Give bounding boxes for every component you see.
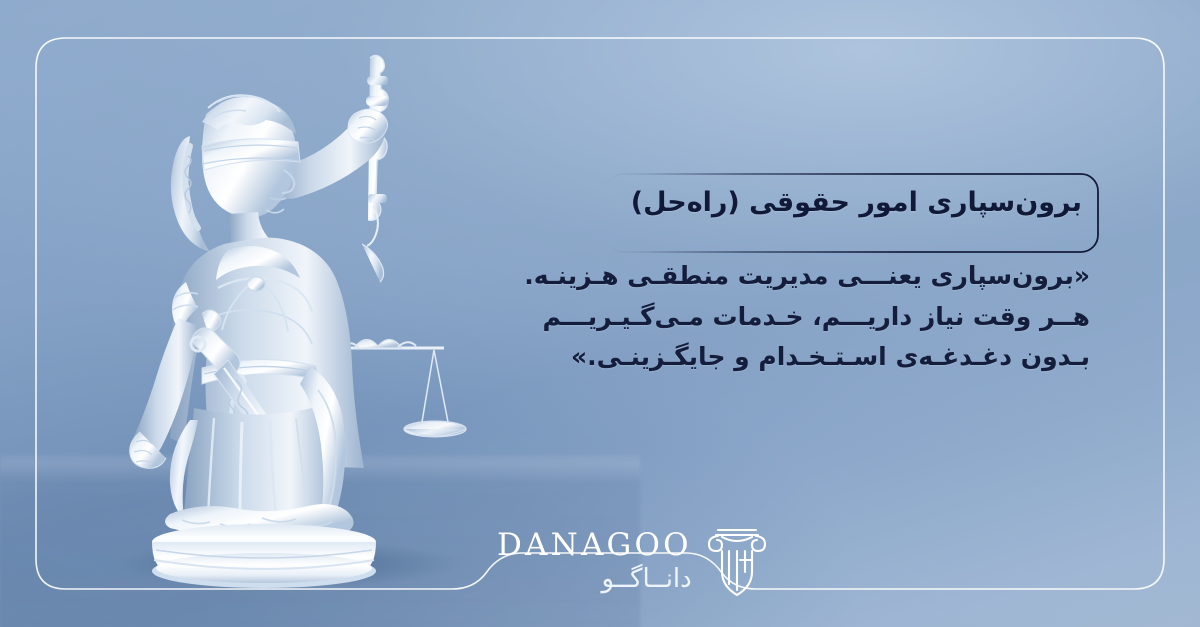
brand-logo[interactable]: DANAGOO دانــاگــو xyxy=(497,524,768,598)
pillar-shield-icon xyxy=(706,524,768,598)
quote-block: «برون‌سپاری یعنـــی مدیریت منطقـی هـزینـ… xyxy=(490,256,1090,378)
brand-name-fa: دانــاگــو xyxy=(497,566,692,592)
brand-wordmark: DANAGOO دانــاگــو xyxy=(497,530,692,592)
lady-justice-statue xyxy=(78,18,498,618)
quote-line-2: هــر وقت نیاز داریـــم، خـدمات مـی‌گـیـر… xyxy=(490,297,1090,338)
quote-line-3: بـدون دغـدغـه‌ی اسـتـخـدام و جایگـزینـی.… xyxy=(490,337,1090,378)
banner-root: برون‌سپاری امور حقوقی (راه‌حل) «برون‌سپا… xyxy=(0,0,1200,627)
page-title: برون‌سپاری امور حقوقی (راه‌حل) xyxy=(631,185,1082,221)
scale-staff xyxy=(362,55,389,282)
head xyxy=(171,95,300,257)
brand-name-en: DANAGOO xyxy=(497,530,692,561)
quote-line-1: «برون‌سپاری یعنـــی مدیریت منطقـی هـزینـ… xyxy=(490,256,1090,297)
pedestal-base xyxy=(152,524,376,588)
page-title-text: برون‌سپاری امور حقوقی (راه‌حل) xyxy=(631,185,1082,221)
